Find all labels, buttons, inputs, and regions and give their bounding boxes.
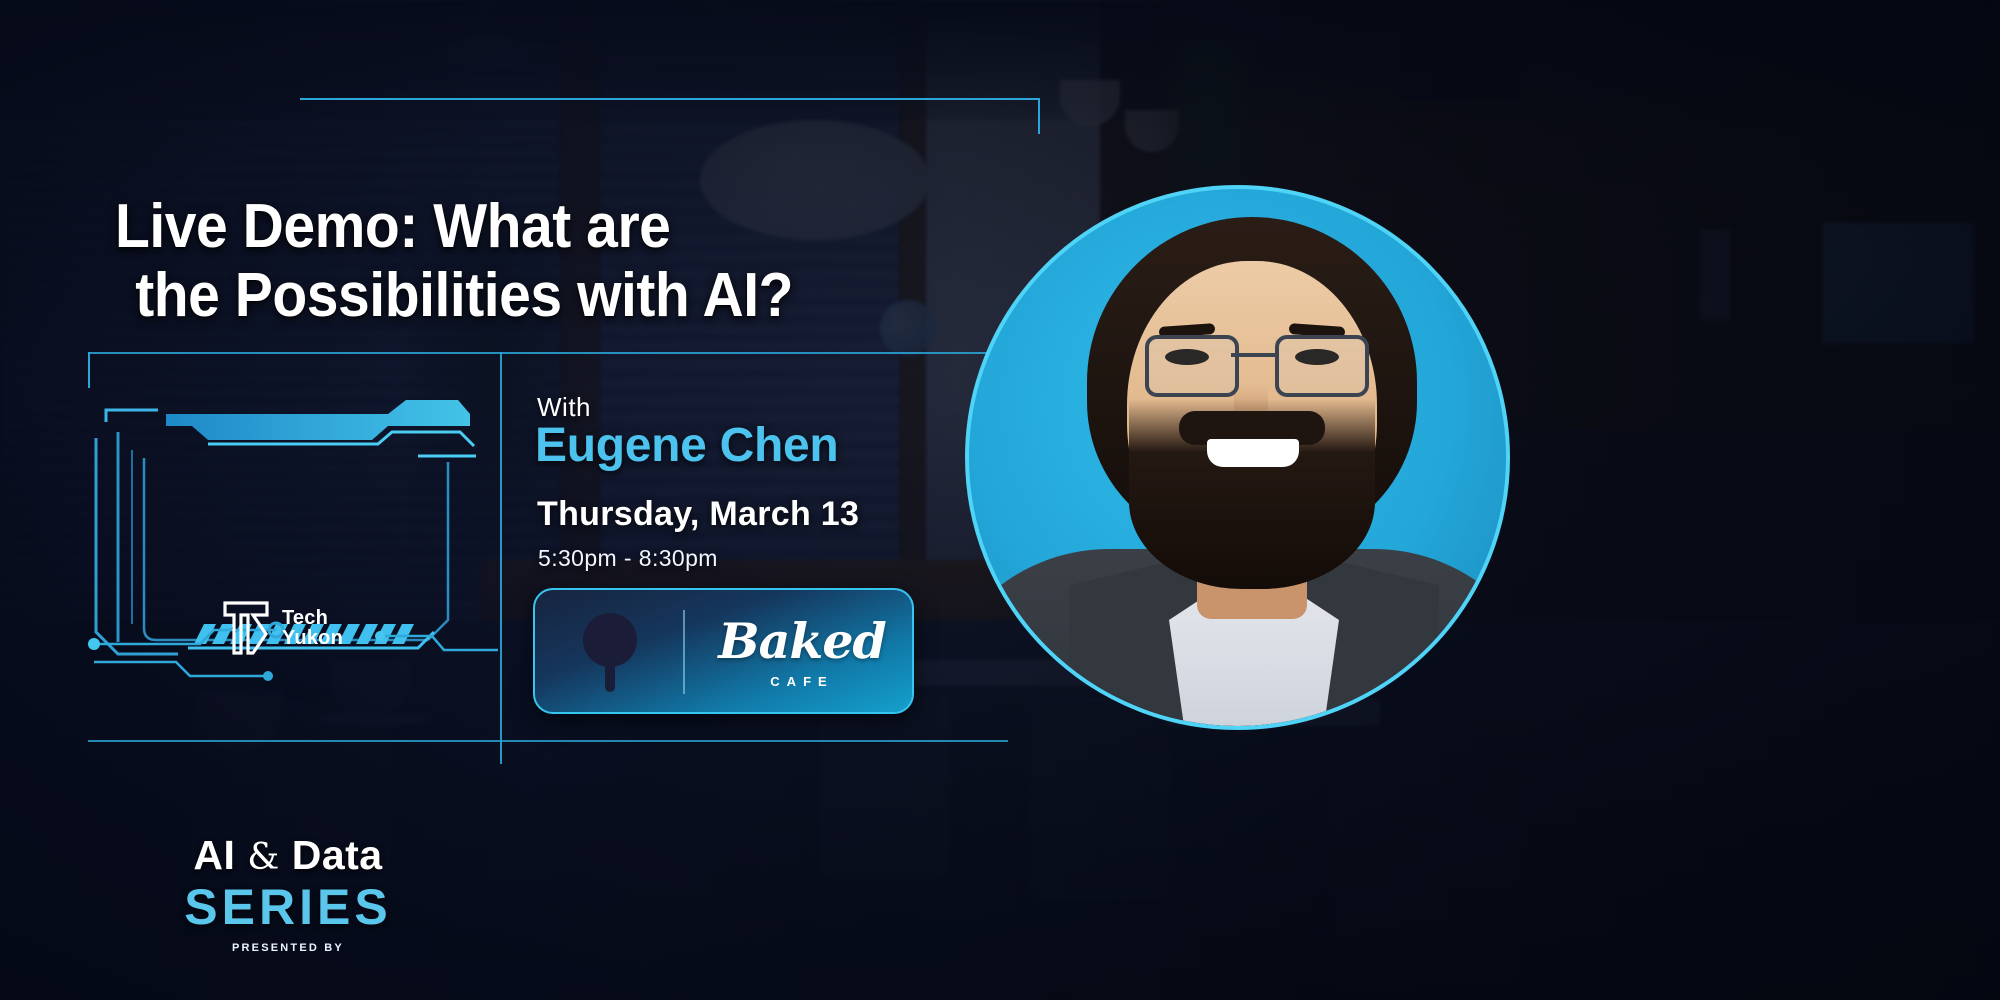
- venue-name: Baked: [707, 612, 897, 670]
- event-banner: Live Demo: What are the Possibilities wi…: [0, 0, 2000, 1000]
- baked-cafe-badge: Baked CAFE: [533, 588, 914, 714]
- guide-line-mid: [88, 352, 1038, 354]
- tech-yukon-wordmark: Tech Yukon: [282, 608, 343, 648]
- series-logo-title: AI & Data: [138, 832, 438, 879]
- event-time: 5:30pm - 8:30pm: [538, 545, 718, 572]
- series-logo-subtitle: SERIES: [138, 878, 438, 936]
- series-logo-title-data: Data: [292, 832, 383, 878]
- portrait-disc: [965, 185, 1510, 730]
- guide-line-vertical: [500, 352, 502, 764]
- guide-line-bottom: [88, 740, 1008, 742]
- tech-yukon-line-1: Tech: [282, 608, 343, 628]
- event-date: Thursday, March 13: [537, 495, 859, 534]
- event-title: Live Demo: What are the Possibilities wi…: [115, 192, 943, 331]
- series-logo-ampersand: &: [247, 837, 280, 878]
- presented-by-label: PRESENTED BY: [138, 942, 438, 954]
- speaker-name: Eugene Chen: [535, 418, 838, 473]
- frying-pan-icon: [575, 612, 645, 694]
- guide-line-top: [300, 98, 1040, 100]
- guide-line-left-tick: [88, 352, 90, 388]
- series-logo-title-ai: AI: [193, 832, 235, 878]
- tech-yukon-line-2: Yukon: [282, 628, 343, 648]
- ty-monogram-icon: [222, 600, 270, 656]
- venue-subtitle: CAFE: [707, 674, 897, 689]
- event-title-line-1: Live Demo: What are: [115, 192, 670, 261]
- speaker-portrait: [965, 185, 1510, 730]
- tech-yukon-logo: Tech Yukon: [222, 600, 343, 656]
- badge-divider: [683, 610, 685, 694]
- portrait-photo: [969, 189, 1506, 726]
- event-title-line-2: the Possibilities with AI?: [115, 261, 943, 330]
- guide-line-top-tick: [1038, 98, 1040, 134]
